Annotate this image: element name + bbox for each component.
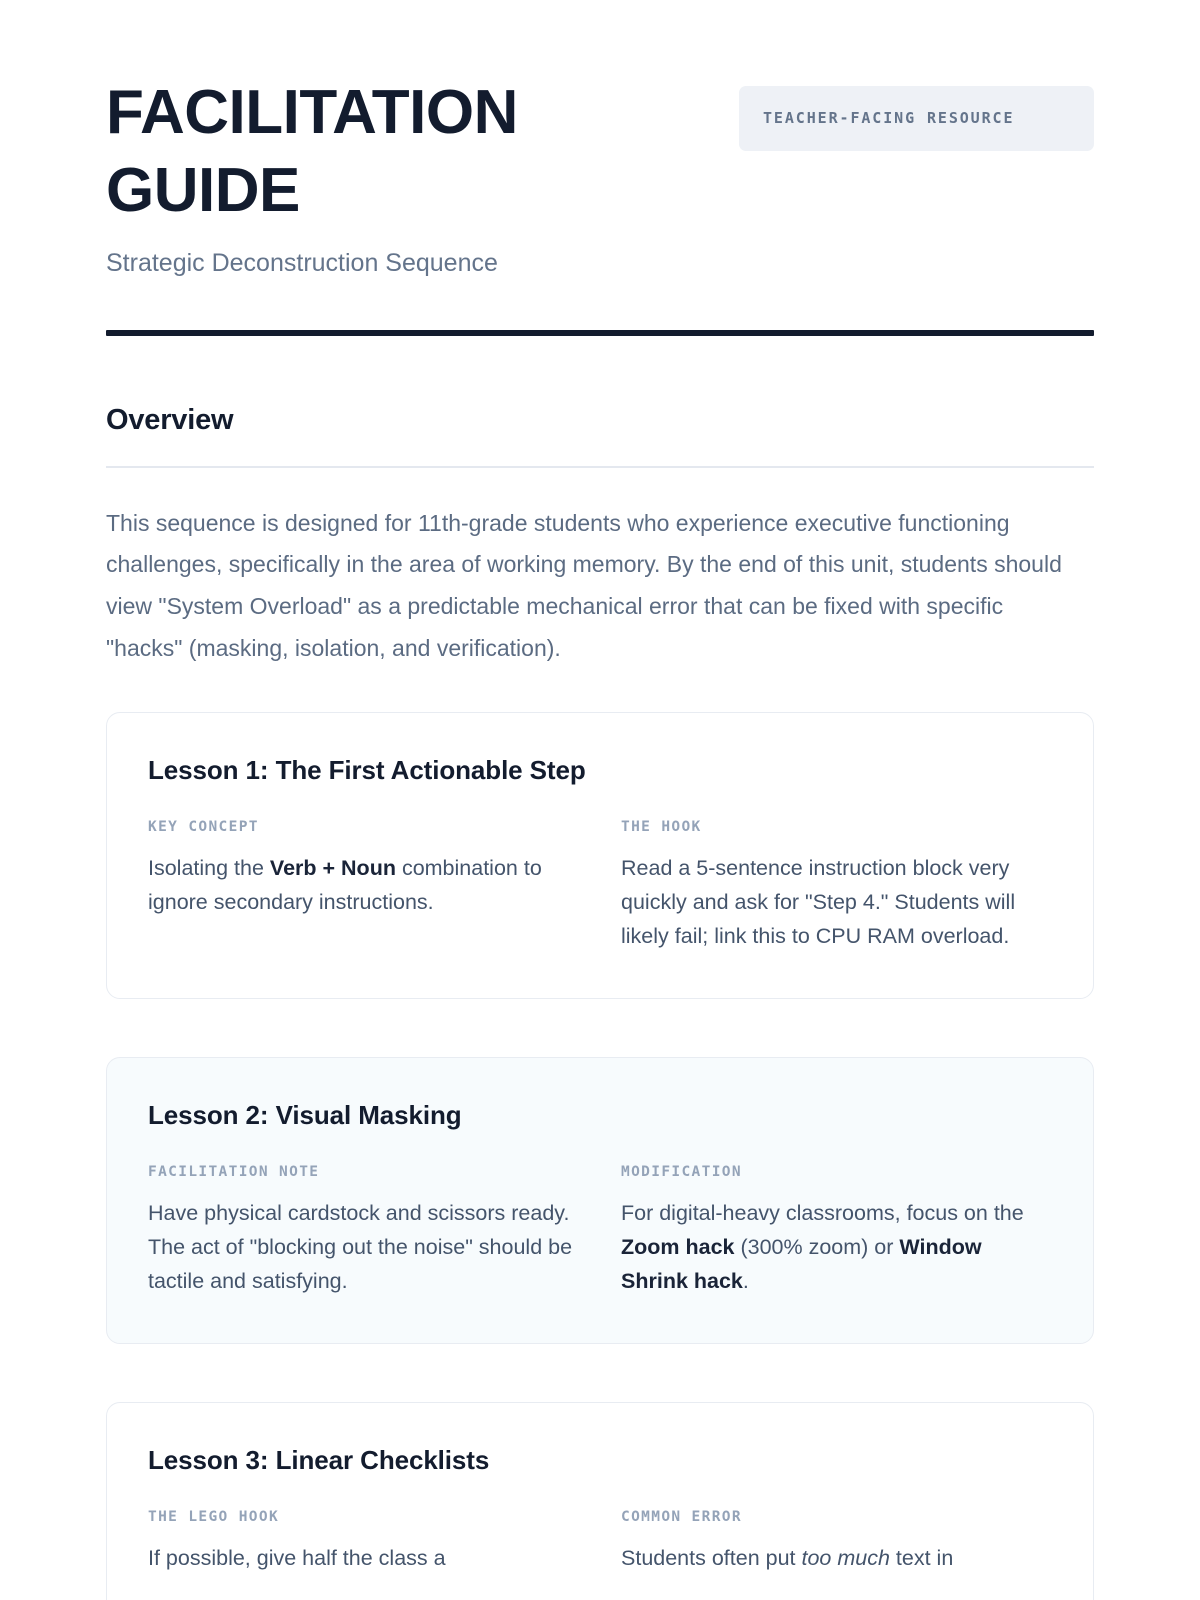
lesson-card-column: COMMON ERROR Students often put too much… xyxy=(621,1509,1052,1576)
lesson-card-list: Lesson 1: The First Actionable Step KEY … xyxy=(106,712,1094,1600)
lesson-column-text: Students often put too much text in xyxy=(621,1542,1052,1576)
lesson-card-title: Lesson 3: Linear Checklists xyxy=(148,1445,1052,1476)
page-title: FACILITATION GUIDE xyxy=(106,74,576,229)
lesson-column-text: For digital-heavy classrooms, focus on t… xyxy=(621,1197,1052,1299)
status-badge: TEACHER-FACING RESOURCE xyxy=(739,86,1094,151)
lesson-card-title: Lesson 2: Visual Masking xyxy=(148,1100,1052,1131)
lesson-column-text: Isolating the Verb + Noun combination to… xyxy=(148,852,579,920)
lesson-card: Lesson 1: The First Actionable Step KEY … xyxy=(106,712,1094,999)
lesson-column-text: If possible, give half the class a xyxy=(148,1542,579,1576)
lesson-column-label: MODIFICATION xyxy=(621,1164,1052,1180)
header-divider xyxy=(106,330,1094,336)
lesson-column-label: THE HOOK xyxy=(621,819,1052,835)
lesson-card-column: THE HOOK Read a 5-sentence instruction b… xyxy=(621,819,1052,954)
section-heading-overview: Overview xyxy=(106,404,1094,437)
lesson-column-text: Have physical cardstock and scissors rea… xyxy=(148,1197,579,1299)
lesson-card: Lesson 2: Visual Masking FACILITATION NO… xyxy=(106,1057,1094,1344)
lesson-column-label: COMMON ERROR xyxy=(621,1509,1052,1525)
lesson-column-label: KEY CONCEPT xyxy=(148,819,579,835)
lesson-card-column: MODIFICATION For digital-heavy classroom… xyxy=(621,1164,1052,1299)
lesson-card-column: THE LEGO HOOK If possible, give half the… xyxy=(148,1509,579,1576)
document-page: FACILITATION GUIDE Strategic Deconstruct… xyxy=(0,0,1200,1600)
lesson-column-label: FACILITATION NOTE xyxy=(148,1164,579,1180)
lesson-column-text: Read a 5-sentence instruction block very… xyxy=(621,852,1052,954)
header-title-group: FACILITATION GUIDE Strategic Deconstruct… xyxy=(106,74,576,280)
status-badge-label: TEACHER-FACING RESOURCE xyxy=(763,105,1070,131)
lesson-card-column: FACILITATION NOTE Have physical cardstoc… xyxy=(148,1164,579,1299)
lesson-card-columns: KEY CONCEPT Isolating the Verb + Noun co… xyxy=(148,819,1052,954)
lesson-card-columns: THE LEGO HOOK If possible, give half the… xyxy=(148,1509,1052,1576)
lesson-card-column: KEY CONCEPT Isolating the Verb + Noun co… xyxy=(148,819,579,954)
document-header: FACILITATION GUIDE Strategic Deconstruct… xyxy=(106,74,1094,280)
lesson-card-columns: FACILITATION NOTE Have physical cardstoc… xyxy=(148,1164,1052,1299)
lesson-card-title: Lesson 1: The First Actionable Step xyxy=(148,755,1052,786)
overview-section: Overview This sequence is designed for 1… xyxy=(106,404,1094,670)
overview-body-text: This sequence is designed for 11th-grade… xyxy=(106,503,1081,670)
page-subtitle: Strategic Deconstruction Sequence xyxy=(106,247,576,280)
lesson-column-label: THE LEGO HOOK xyxy=(148,1509,579,1525)
section-divider xyxy=(106,466,1094,468)
lesson-card: Lesson 3: Linear Checklists THE LEGO HOO… xyxy=(106,1402,1094,1600)
